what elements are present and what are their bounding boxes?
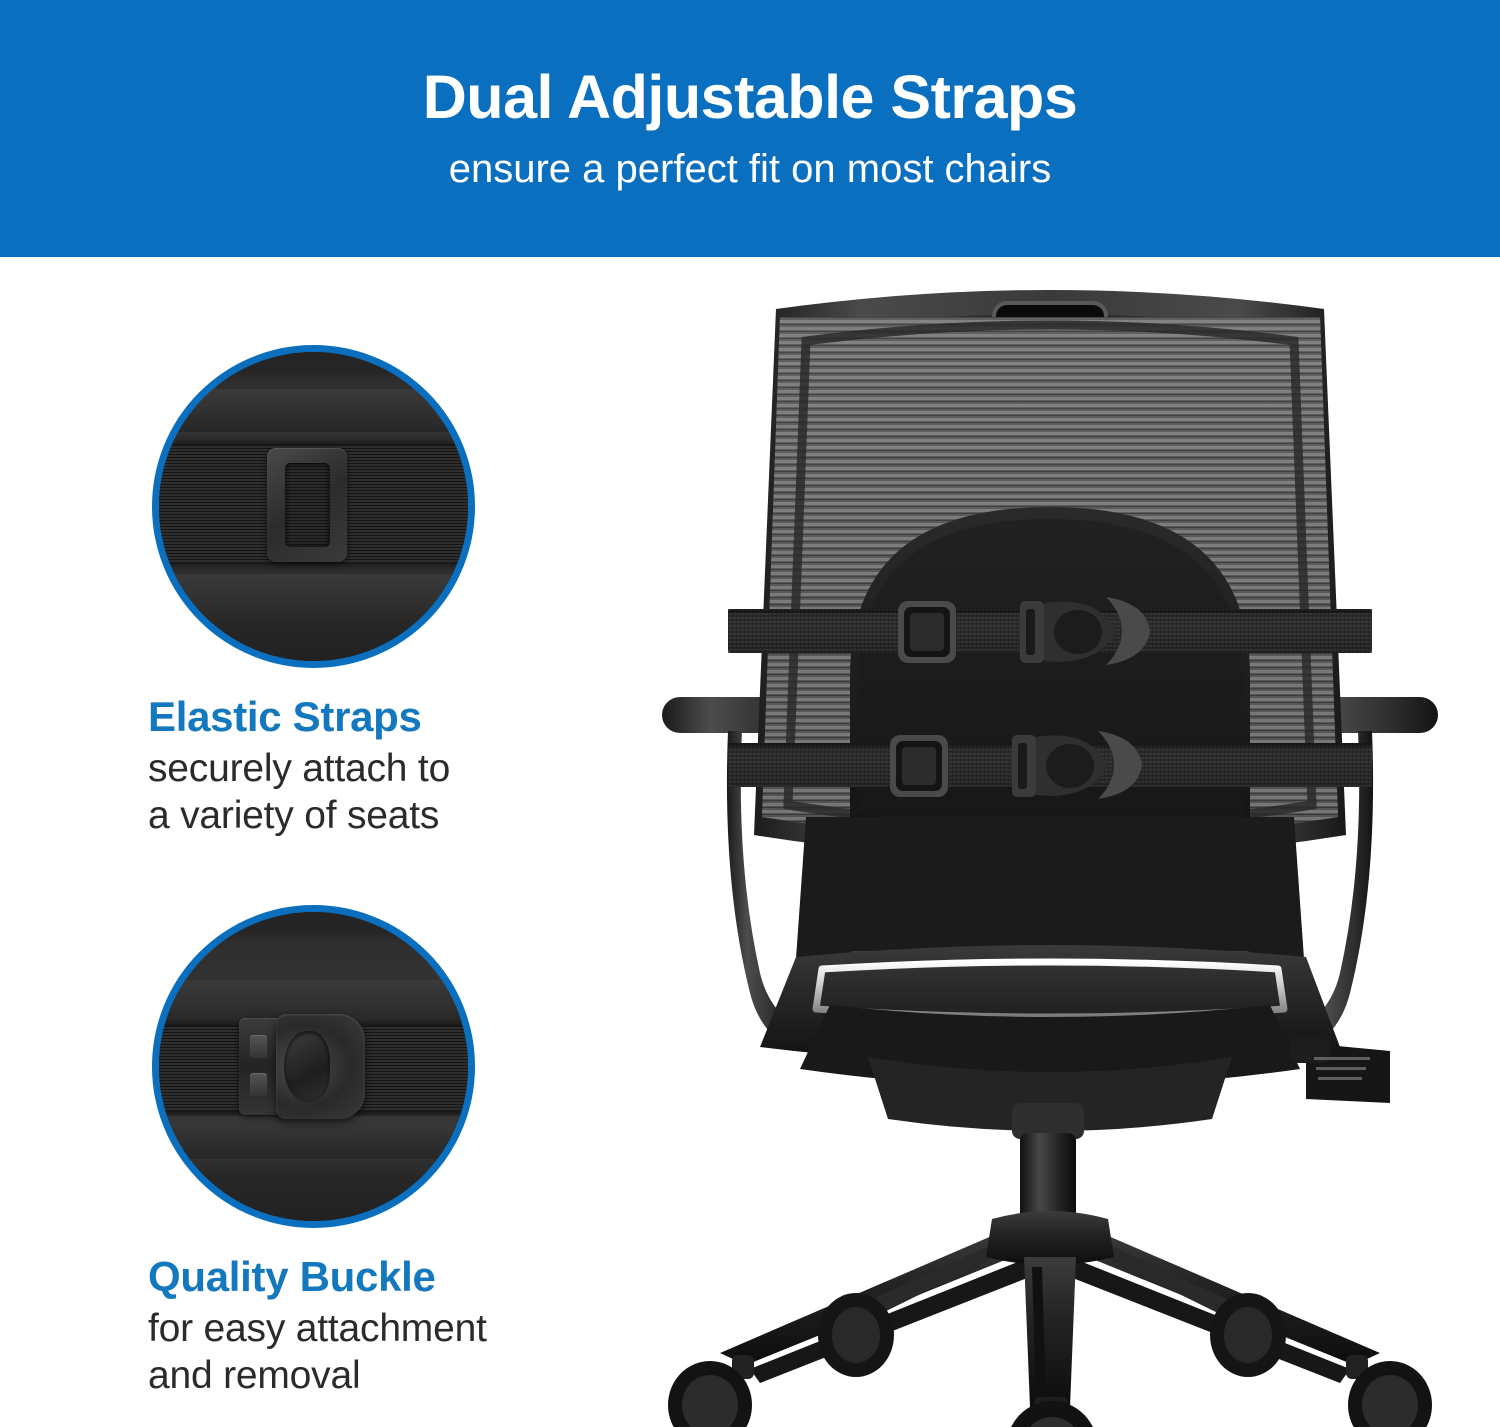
caster-wheel [1346, 1355, 1432, 1427]
caster-wheel [1006, 1397, 1098, 1427]
five-star-base [720, 1211, 1380, 1407]
side-release-buckle-upper [1020, 597, 1150, 665]
side-release-buckle-lower [1012, 731, 1142, 799]
infographic-page: Dual Adjustable Straps ensure a perfect … [0, 0, 1500, 1427]
feature-description: for easy attachment and removal [148, 1305, 578, 1400]
page-subtitle: ensure a perfect fit on most chairs [449, 146, 1052, 192]
feature-title: Quality Buckle [148, 1253, 578, 1301]
feature-title: Elastic Straps [148, 693, 578, 741]
office-chair-illustration [600, 257, 1500, 1427]
chair-plate-bottom [159, 1116, 468, 1159]
feature-description: securely attach to a variety of seats [148, 745, 578, 840]
caster-wheel [1210, 1293, 1286, 1377]
tilt-lock-lever [1290, 1037, 1390, 1103]
page-title: Dual Adjustable Straps [423, 65, 1078, 129]
feature-desc-line: securely attach to [148, 745, 578, 793]
feature-desc-line: a variety of seats [148, 792, 578, 840]
strap-slider-adjuster-lower [890, 735, 948, 797]
strap-slider-adjuster-icon [267, 448, 347, 562]
detail-circle-buckle [152, 905, 475, 1228]
feature-desc-line: for easy attachment [148, 1305, 578, 1353]
header-banner: Dual Adjustable Straps ensure a perfect … [0, 0, 1500, 257]
buckle-female-end [276, 1014, 365, 1119]
buckle-photo [159, 912, 468, 1221]
feature-text-block: Elastic Straps securely attach to a vari… [148, 693, 578, 840]
chair-plate-top [159, 389, 468, 432]
caster-wheel [818, 1293, 894, 1377]
strap-slider-adjuster-upper [898, 601, 956, 663]
detail-circle-strap-slider [152, 345, 475, 668]
feature-text-block: Quality Buckle for easy attachment and r… [148, 1253, 578, 1400]
chair-plate-bottom [159, 574, 468, 623]
feature-desc-line: and removal [148, 1352, 578, 1400]
product-photo-area [600, 257, 1500, 1427]
strap-slider-photo [159, 352, 468, 661]
caster-wheel [668, 1355, 754, 1427]
side-release-buckle-icon [239, 1014, 363, 1119]
feature-column: Elastic Straps securely attach to a vari… [0, 257, 600, 1427]
